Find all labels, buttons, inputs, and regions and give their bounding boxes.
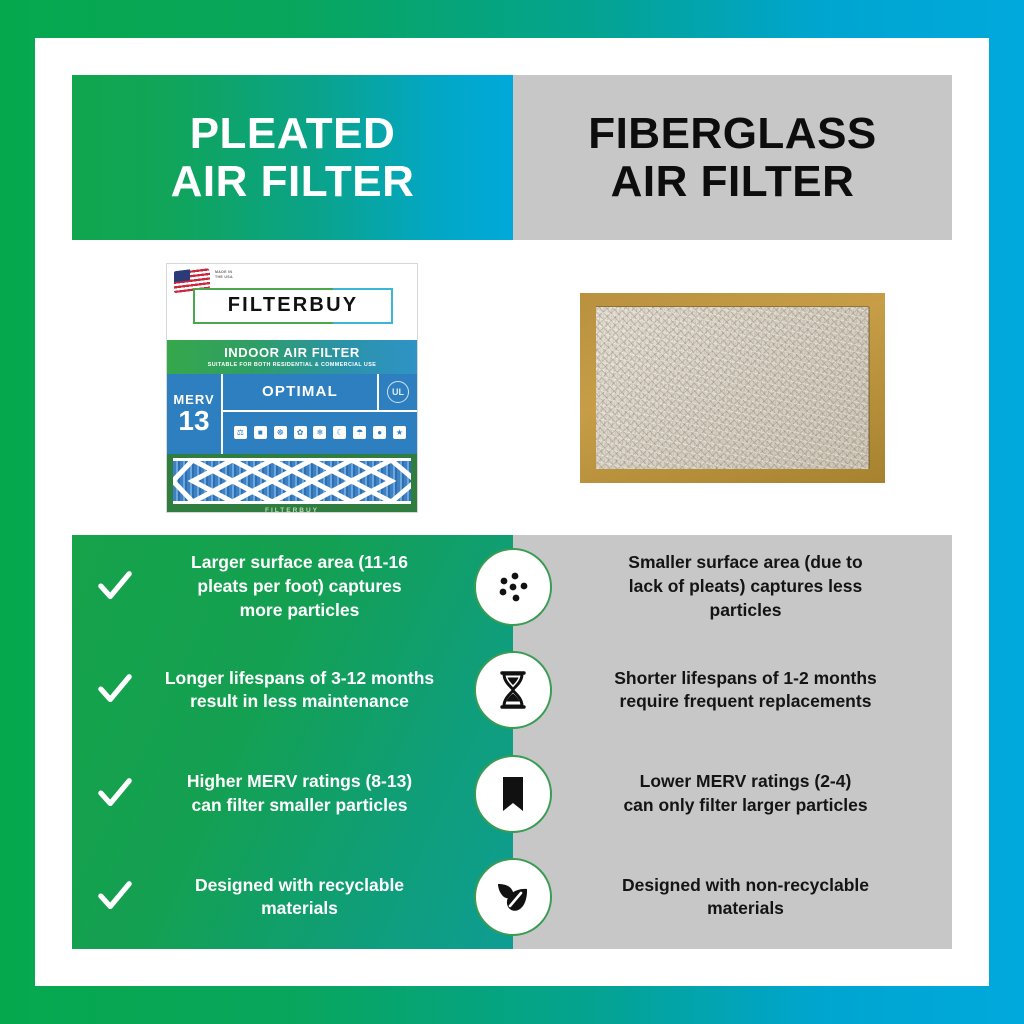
comparison-row: Designed with recyclable materials Desig…: [72, 846, 952, 950]
comparison-panel: Larger surface area (11-16 pleats per fo…: [72, 535, 952, 949]
ul-certification-icon: UL: [387, 381, 409, 403]
made-in-usa-label: MADE IN THE USA: [215, 270, 233, 281]
row-left-text: Longer lifespans of 3-12 months result i…: [146, 667, 453, 714]
fiberglass-product-cell: [512, 240, 952, 535]
header-row: PLEATED AIR FILTER FIBERGLASS AIR FILTER: [72, 75, 952, 240]
brand-logo-text: FILTERBUY: [228, 294, 359, 317]
header-fiberglass: FIBERGLASS AIR FILTER: [513, 75, 952, 240]
row-right-text: Shorter lifespans of 1-2 months require …: [614, 667, 877, 714]
pollen-icon: ☸: [274, 426, 287, 439]
pleated-filter-box-image: MADE IN THE USA FILTERBUY INDOOR AIR FIL…: [166, 263, 418, 513]
support-mesh-diamonds: [173, 458, 411, 504]
row-right-cell: Designed with non-recyclable materials: [513, 846, 952, 950]
box-top-white-area: MADE IN THE USA FILTERBUY: [167, 264, 417, 340]
filter-feature-icons: ⚖ ■ ☸ ✿ ❄ ☾ ☂ ● ★: [223, 412, 417, 454]
ribbon-badge-icon: [491, 772, 535, 816]
row-right-text: Smaller surface area (due to lack of ple…: [628, 551, 862, 622]
pleat-texture: [173, 458, 411, 504]
feature-icon-item: ❄: [313, 426, 326, 439]
leaf-icon-badge: [474, 858, 552, 936]
feature-icon-item: ■: [254, 426, 267, 439]
particles-icon: [491, 565, 535, 609]
comparison-rows: Larger surface area (11-16 pleats per fo…: [72, 535, 952, 949]
box-footer-brand: FILTERBUY: [173, 504, 411, 513]
checkmark-icon: [94, 880, 136, 914]
grade-label: OPTIMAL: [223, 374, 377, 410]
hourglass-icon: [491, 668, 535, 712]
row-left-cell: Larger surface area (11-16 pleats per fo…: [72, 535, 513, 639]
row-left-text: Designed with recyclable materials: [146, 874, 453, 921]
infographic-card: PLEATED AIR FILTER FIBERGLASS AIR FILTER…: [35, 38, 989, 986]
ul-cert-cell: UL: [377, 374, 417, 410]
frame-seam-right: [868, 307, 870, 469]
comparison-row: Higher MERV ratings (8-13) can filter sm…: [72, 742, 952, 846]
row-left-cell: Longer lifespans of 3-12 months result i…: [72, 639, 513, 743]
hourglass-icon-badge: [474, 651, 552, 729]
row-right-text: Designed with non-recyclable materials: [622, 874, 869, 921]
box-indoor-band: INDOOR AIR FILTER SUITABLE FOR BOTH RESI…: [167, 340, 417, 374]
header-pleated-title: PLEATED AIR FILTER: [171, 110, 415, 205]
feature-icon-item: ★: [393, 426, 406, 439]
feature-icon-item: ⚖: [234, 426, 247, 439]
leaf-icon: [491, 875, 535, 919]
mold-icon: ✿: [294, 426, 307, 439]
product-image-row: MADE IN THE USA FILTERBUY INDOOR AIR FIL…: [72, 240, 952, 535]
comparison-row: Larger surface area (11-16 pleats per fo…: [72, 535, 952, 639]
indoor-air-filter-title: INDOOR AIR FILTER: [224, 345, 360, 360]
virus-icon: ★: [393, 426, 406, 439]
box-specs-area: MERV 13 OPTIMAL UL ⚖ ■ ☸: [167, 374, 417, 454]
dust-icon: ⚖: [234, 426, 247, 439]
ribbon-badge-icon-badge: [474, 755, 552, 833]
pet-dander-icon: ☾: [333, 426, 346, 439]
fiberglass-mesh-texture: [596, 307, 869, 469]
row-right-text: Lower MERV ratings (2-4) can only filter…: [623, 770, 867, 817]
merv-value: 13: [178, 407, 209, 435]
feature-icon-item: ●: [373, 426, 386, 439]
checkmark-icon: [94, 777, 136, 811]
row-left-text: Higher MERV ratings (8-13) can filter sm…: [146, 770, 453, 817]
grade-row: OPTIMAL UL: [223, 374, 417, 412]
feature-icon-item: ☾: [333, 426, 346, 439]
feature-icon-item: ☸: [274, 426, 287, 439]
box-specs-right: OPTIMAL UL ⚖ ■ ☸ ✿ ❄ ☾ ☂: [223, 374, 417, 454]
frame-seam-top: [596, 306, 869, 308]
smoke-icon: ☂: [353, 426, 366, 439]
row-right-cell: Shorter lifespans of 1-2 months require …: [513, 639, 952, 743]
row-left-cell: Higher MERV ratings (8-13) can filter sm…: [72, 742, 513, 846]
bacteria-icon: ●: [373, 426, 386, 439]
merv-block: MERV 13: [167, 374, 223, 454]
fiberglass-filter-image: [580, 293, 885, 483]
checkmark-icon: [94, 570, 136, 604]
pleated-product-cell: MADE IN THE USA FILTERBUY INDOOR AIR FIL…: [72, 240, 512, 535]
pleated-media-area: FILTERBUY: [167, 454, 417, 512]
brand-logo-frame: FILTERBUY: [193, 288, 393, 324]
row-right-cell: Smaller surface area (due to lack of ple…: [513, 535, 952, 639]
lint-icon: ❄: [313, 426, 326, 439]
feature-icon-item: ✿: [294, 426, 307, 439]
comparison-row: Longer lifespans of 3-12 months result i…: [72, 639, 952, 743]
indoor-air-filter-subtitle: SUITABLE FOR BOTH RESIDENTIAL & COMMERCI…: [208, 362, 376, 368]
row-left-text: Larger surface area (11-16 pleats per fo…: [146, 551, 453, 622]
feature-icon-item: ☂: [353, 426, 366, 439]
row-left-cell: Designed with recyclable materials: [72, 846, 513, 950]
dustmite-icon: ■: [254, 426, 267, 439]
header-fiberglass-title: FIBERGLASS AIR FILTER: [588, 110, 877, 205]
particles-icon-badge: [474, 548, 552, 626]
checkmark-icon: [94, 673, 136, 707]
header-pleated: PLEATED AIR FILTER: [72, 75, 513, 240]
row-right-cell: Lower MERV ratings (2-4) can only filter…: [513, 742, 952, 846]
